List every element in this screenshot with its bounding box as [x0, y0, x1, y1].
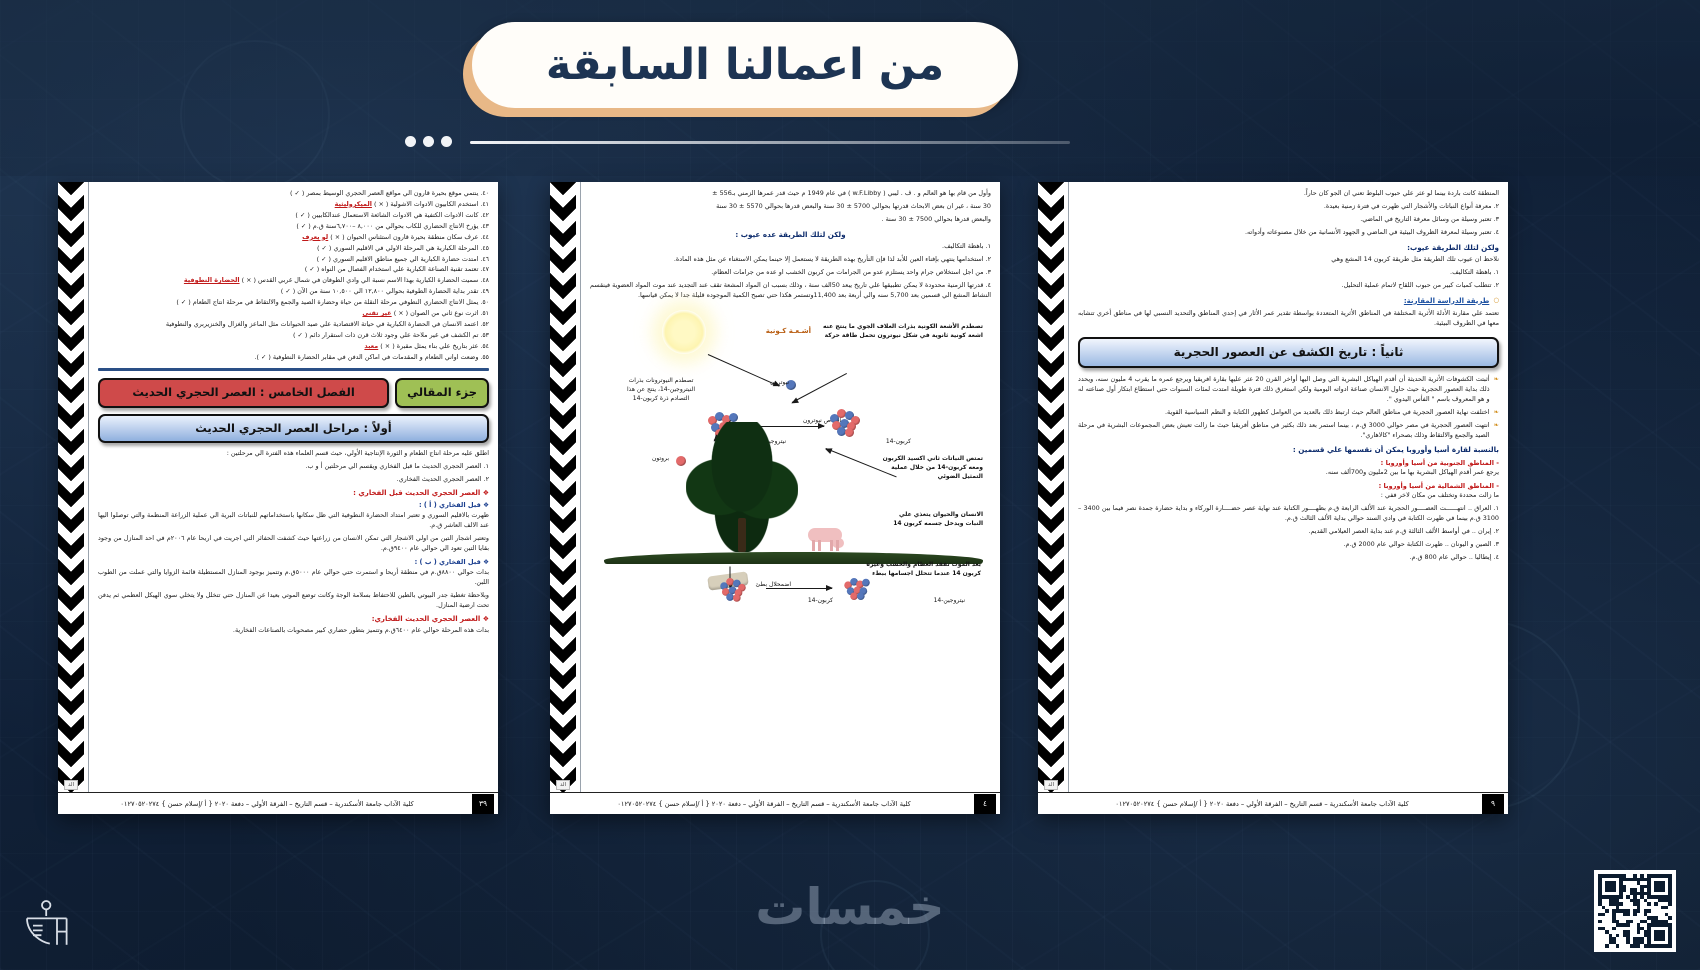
- grazing-animal-illustration: [806, 526, 846, 552]
- tree-illustration: [686, 422, 798, 552]
- section-title-box: أولاً : مراحل العصر الحجري الحديث: [98, 414, 489, 444]
- subheading-neolithic-prepottery: ❖ العصر الحجري الحديث قبل الفخاري :: [98, 488, 489, 499]
- right-top-lines: المنطقة كانت باردة بينما لو عثر علي حبوب…: [1078, 189, 1499, 238]
- item-text: عرف سكان منطقة بحيرة قارون استئناس الحيو…: [328, 233, 478, 241]
- true-false-item: ٤٥. المرحلة الكبارية هي المرحلة الاولي ف…: [98, 244, 489, 254]
- item-text: وضعت اواني الطعام و المقدمات في اماكن ال…: [254, 353, 478, 361]
- prepottery-b-paragraph: بدات حوالي ٨٨٠٠ق.م في منطقة أريحا و استم…: [98, 568, 489, 588]
- middle-page-number: ٤: [974, 794, 996, 814]
- brand-logo-icon: [14, 898, 76, 952]
- item-correction: لو يعرف: [302, 233, 328, 241]
- item-text: المرحلة الكبارية هي المرحلة الاولي في ال…: [317, 244, 478, 252]
- item-number: ٥٣.: [478, 332, 489, 339]
- label-carbon-14-top: كربون-14: [886, 437, 911, 446]
- subheading-prepottery-b: ❖ قبل الفخاري ( ب ) :: [98, 557, 489, 567]
- label-after-death: بعد الموت تفقد العظام والخشب وغيره كربون…: [863, 560, 981, 578]
- item-text: امتدت حضارة الكبارية الي جميع مناطق الاق…: [317, 255, 479, 263]
- left-paragraph-1a: ظهرت بالاقليم السوري و تعتبر امتداد الحض…: [98, 511, 489, 554]
- middle-page-corner-tag: الد: [556, 780, 570, 790]
- true-false-item: ٤١. استخدم الكابيون الادوات الاشولية ( ×…: [98, 200, 489, 210]
- right-top-line: ٢. معرفة أنواع النباتات والأشجار التي ظه…: [1078, 202, 1499, 212]
- left-paragraph-1b: بدات حوالي ٨٨٠٠ق.م في منطقة أريحا و استم…: [98, 568, 489, 611]
- asia-europe-north-heading: - المناطق الشمالية من أسيا وأوروبا :: [1078, 481, 1499, 491]
- item-text: يؤرخ الانتاج الحضاري للكاب بحوالي من ٨,٠…: [296, 222, 478, 230]
- comparison-text: تعتمد علي مقارنة الأدلة الأثرية المختلفة…: [1078, 309, 1499, 329]
- right-page-corner-tag: الد: [1044, 780, 1058, 790]
- true-false-list: ٤٠. ينتمي موقع بحيرة قارون الي مواقع الع…: [98, 189, 489, 363]
- right-defects-intro: نلاحظ ان عيوب تلك الطريقة مثل طريقة كربو…: [1078, 255, 1499, 265]
- middle-intro-line: 30 سنة ، غير ان بعض الابحاث قدرتها بحوال…: [590, 202, 991, 212]
- item-text: تعتمد تقنية الصناعة الكبارية علي استخدام…: [305, 265, 479, 273]
- item-correction: الحضارة النطوفية: [184, 276, 240, 284]
- qr-code[interactable]: [1594, 870, 1676, 952]
- arrow-decay: [766, 588, 832, 589]
- carbon-14-nucleus: [830, 409, 860, 435]
- true-false-item: ٤٣. يؤرخ الانتاج الحضاري للكاب بحوالي من…: [98, 222, 489, 232]
- item-number: ٥٢.: [478, 321, 489, 328]
- middle-defects-list: ١. باهظة التكاليف.٢. استخدامها ينتهي بإف…: [590, 242, 991, 301]
- carbon-14-nucleus-bottom: [720, 577, 746, 599]
- essay-part-badge: جزء المقالي: [395, 378, 489, 408]
- true-false-item: ٥٠. يمثل الانتاج الحضاري النطوفي مرحلة ا…: [98, 298, 489, 308]
- right-bullet-item: ❧اختلفت نهاية العصور الحجرية في مناطق ال…: [1078, 408, 1499, 418]
- middle-intro-line: وأول من قام بها هو العالم و . ف . ليبي (…: [590, 189, 991, 199]
- right-bullet-text: اختلفت نهاية العصور الحجرية في مناطق الع…: [1078, 408, 1490, 418]
- item-text: كانت الادوات الكتفية هي الادوات الشائعة …: [295, 211, 478, 219]
- right-page-number: ٩: [1482, 794, 1504, 814]
- right-bullet-list: ❧أثبتت الكشوفات الأثرية الحديثة أن أقدم …: [1078, 375, 1499, 441]
- asia-europe-heading: بالنسبة لقارة أسيا وأوروبا يمكن أن نقسمه…: [1078, 444, 1499, 455]
- left-intro-line: اطلق عليه مرحلة انتاج الطعام و الثورة ال…: [98, 449, 489, 459]
- right-top-line: ٣. تعتبر وسيلة من وسائل معرفة التاريخ في…: [1078, 215, 1499, 225]
- middle-defect-item: ١. باهظة التكاليف.: [590, 242, 991, 252]
- comparison-heading-row: ○ طريقة الدراسة المقارنة:: [1078, 296, 1499, 307]
- document-page-left[interactable]: ٤٠. ينتمي موقع بحيرة قارون الي مواقع الع…: [58, 182, 498, 814]
- right-defect-item: ٢. تتطلب كميات كبير من حبوب اللقاح لاتما…: [1078, 281, 1499, 291]
- right-top-line: المنطقة كانت باردة بينما لو عثر علي حبوب…: [1078, 189, 1499, 199]
- item-number: ٤٥.: [478, 245, 489, 252]
- chapter-box-row: جزء المقالي الفصل الخامس : العصر الحجري …: [98, 378, 489, 408]
- middle-page-footer: ٤ كلية الآداب جامعة الأسكندرية – قسم الت…: [550, 792, 1000, 814]
- left-sheet-zigzag-border: [58, 182, 84, 814]
- item-number: ٤٨.: [478, 277, 489, 284]
- item-text: ينتمي موقع بحيرة قارون الي مواقع العصر ا…: [290, 189, 478, 197]
- true-false-item: ٥٤. عثر بتاريخ علي بناء يمثل مقبرة ( × )…: [98, 342, 489, 352]
- item-number: ٥٥.: [478, 354, 489, 361]
- right-country-item: ٣. الصين و اليونان .. ظهرت الكتابة حوالي…: [1078, 540, 1499, 550]
- left-page-number: ٣٩: [472, 794, 494, 814]
- middle-intro-line: والبعض قدرها بحوالي 7500 ± 30 سنة .: [590, 215, 991, 225]
- subheading-prepottery-a: ❖ قبل الفخاري ( أ ) :: [98, 500, 489, 510]
- right-bullet-text: أثبتت الكشوفات الأثرية الحديثة أن أقدم ا…: [1078, 375, 1490, 405]
- carbon-14-cycle-diagram: أشـعـة كـونية تصطدم الأشعة الكونية بذرات…: [590, 304, 991, 604]
- asia-europe-south-text: يرجع عمر أقدم الهياكل البشرية بها ما بين…: [1078, 468, 1499, 478]
- true-false-item: ٤٠. ينتمي موقع بحيرة قارون الي مواقع الع…: [98, 189, 489, 199]
- left-page-body: ٤٠. ينتمي موقع بحيرة قارون الي مواقع الع…: [89, 182, 498, 814]
- right-page-body: المنطقة كانت باردة بينما لو عثر علي حبوب…: [1069, 182, 1508, 814]
- item-text: اعتمد الانسان في الحضارة الكبارية في حيا…: [166, 320, 479, 328]
- label-nitrogen-14-bottom: نيتروجين-14: [934, 596, 965, 605]
- item-text: اثرت نوع ثاني من الصوان ( × ): [392, 309, 479, 317]
- item-number: ٤٢.: [478, 212, 489, 219]
- item-correction: معبد: [364, 342, 378, 350]
- bullet-marker-icon: ❧: [1494, 375, 1499, 384]
- right-sheet-zigzag-border: [1038, 182, 1064, 814]
- label-animals-eat: الانسان والحيوان يتغذي علي النبات ويدخل …: [883, 510, 983, 528]
- item-number: ٤٦.: [478, 256, 489, 263]
- true-false-item: ٤٦. امتدت حضارة الكبارية الي جميع مناطق …: [98, 255, 489, 265]
- left-intro-line: ١. العصر الحجري الحديث ما قبل الفخاري وي…: [98, 462, 489, 472]
- label-cosmic-rays-paragraph: تصطدم الأشعة الكونية بذرات الغلاف الجوي …: [815, 322, 983, 340]
- right-bullet-item: ❧انتهت العصور الحجرية في مصر حوالي 3000 …: [1078, 421, 1499, 441]
- right-country-item: ٤. إيطاليا .. حوالي عام 800 ق.م.: [1078, 553, 1499, 563]
- nitrogen-14-nucleus-bottom: [844, 577, 870, 599]
- middle-intro-paragraph: وأول من قام بها هو العالم و . ف . ليبي (…: [590, 189, 991, 225]
- true-false-item: ٥٣. تم الكشف في غير ملاحة علي وجود ثلاث …: [98, 331, 489, 341]
- middle-defect-item: ٤. قدرتها الزمنية محدودة لا يمكن تطبيقها…: [590, 281, 991, 301]
- document-page-middle[interactable]: وأول من قام بها هو العالم و . ف . ليبي (…: [550, 182, 1000, 814]
- circle-bullet-icon: ○: [1493, 296, 1499, 305]
- right-section-title-box: ثانياً : تاريخ الكشف عن العصور الحجرية: [1078, 337, 1499, 368]
- right-country-item: ١. العراق .. انتهــــــت العصــــور الحج…: [1078, 504, 1499, 524]
- chapter-title-box: الفصل الخامس : العصر الحجري الحديث: [98, 378, 389, 408]
- left-intro-line: ٢. العصر الحجري الحديث الفخاري.: [98, 475, 489, 485]
- arrow-neutron-to-nitrogen: [792, 372, 847, 402]
- item-number: ٤٤.: [478, 234, 489, 241]
- left-page-corner-tag: الد: [64, 780, 78, 790]
- true-false-item: ٤٩. تقدر بداية الحضارة الطوفية بحوالي ١٢…: [98, 287, 489, 297]
- true-false-item: ٤٤. عرف سكان منطقة بحيرة قارون استئناس ا…: [98, 233, 489, 243]
- middle-defect-item: ٣. من اجل استخلاص جرام واحد يستلزم عدو م…: [590, 268, 991, 278]
- label-photosynthesis: تمتص النباتات ثاني اكسيد الكربون ومعه كر…: [875, 454, 983, 481]
- bullet-marker-icon: ❧: [1494, 408, 1499, 417]
- true-false-item: ٥٢. اعتمد الانسان في الحضارة الكبارية في…: [98, 320, 489, 330]
- label-neutron-collision: تصطدم النيوترونات بذرات النيتروجين-14، ي…: [626, 376, 696, 403]
- item-number: ٤٣.: [478, 223, 489, 230]
- label-neutron: نيوترون: [770, 378, 789, 387]
- true-false-item: ٤٨. سميت الحضارة الكبارية بهذا الاسم نسب…: [98, 276, 489, 286]
- right-country-item: ٢. إيران .. في أواسط الألف الثالثة ق.م ع…: [1078, 527, 1499, 537]
- label-carbon-14-bottom: كربون-14: [808, 596, 833, 605]
- true-false-item: ٤٧. تعتمد تقنية الصناعة الكبارية علي است…: [98, 265, 489, 275]
- right-defect-item: ١. باهظة التكاليف.: [1078, 268, 1499, 278]
- middle-sheet-zigzag-border: [550, 182, 576, 814]
- item-text: عثر بتاريخ علي بناء يمثل مقبرة ( × ): [378, 342, 478, 350]
- item-number: ٤١.: [478, 201, 489, 208]
- item-text: تم الكشف في غير ملاحة علي وجود ثلاث قرن …: [293, 331, 478, 339]
- right-defects-heading: ولكن لتلك الطريقة عيوب:: [1078, 242, 1499, 253]
- item-number: ٤٠.: [478, 190, 489, 197]
- left-page-rule: [98, 368, 489, 371]
- sun-icon: [662, 310, 706, 354]
- bullet-marker-icon: ❧: [1494, 421, 1499, 430]
- comparison-heading: طريقة الدراسة المقارنة:: [1078, 296, 1489, 307]
- prepottery-a-paragraph: ظهرت بالاقليم السوري و تعتبر امتداد الحض…: [98, 511, 489, 531]
- item-number: ٤٩.: [478, 288, 489, 295]
- right-page-footer-text: كلية الآداب جامعة الأسكندرية – قسم التار…: [1042, 800, 1482, 808]
- label-proton: بروتون: [652, 454, 669, 463]
- asia-europe-south-heading: - المناطق الجنوبية من أسيا وأوروبا :: [1078, 458, 1499, 468]
- proton-particle: [676, 456, 686, 466]
- middle-defects-heading: ولكن لتلك الطريقة عده عيوب :: [590, 229, 991, 240]
- left-paragraph-2: بدات هذه المرحلة حوالي عام ٦٤٠٠ق.م وتتمي…: [98, 626, 489, 636]
- item-number: ٤٧.: [478, 266, 489, 273]
- arrow-sun-to-neutron: [708, 354, 780, 387]
- item-text: يمثل الانتاج الحضاري النطوفي مرحلة النقل…: [176, 298, 478, 306]
- item-number: ٥٠.: [478, 299, 489, 306]
- right-page-footer: ٩ كلية الآداب جامعة الأسكندرية – قسم الت…: [1038, 792, 1508, 814]
- item-correction: غير تقني: [362, 309, 391, 317]
- right-countries-list: ١. العراق .. انتهــــــت العصــــور الحج…: [1078, 504, 1499, 563]
- right-top-line: ٤. تعتبر وسيلة لمعرفة الظروف البيئية في …: [1078, 228, 1499, 238]
- subheading-pottery-neolithic: ❖ العصر الحجري الحديث الفخاري:: [98, 614, 489, 625]
- left-page-footer-text: كلية الآداب جامعة الأسكندرية – قسم التار…: [62, 800, 472, 808]
- item-correction: الميكروليثية: [335, 200, 372, 208]
- prepottery-b-paragraph: وبلاحظة تغطية جدر البيوتي بالطين للاحتفا…: [98, 591, 489, 611]
- item-number: ٥١.: [478, 310, 489, 317]
- item-text: تقدر بداية الحضارة الطوفية بحوالي ١٢,٨٠٠…: [281, 287, 479, 295]
- true-false-item: ٥٥. وضعت اواني الطعام و المقدمات في اماك…: [98, 353, 489, 363]
- item-number: ٥٤.: [478, 343, 489, 350]
- item-text: سميت الحضارة الكبارية بهذا الاسم نسبة ال…: [240, 276, 479, 284]
- item-text: استخدم الكابيون الادوات الاشولية ( × ): [372, 200, 478, 208]
- document-page-right[interactable]: المنطقة كانت باردة بينما لو عثر علي حبوب…: [1038, 182, 1508, 814]
- left-intro-lines: اطلق عليه مرحلة انتاج الطعام و الثورة ال…: [98, 449, 489, 485]
- true-false-item: ٤٢. كانت الادوات الكتفية هي الادوات الشا…: [98, 211, 489, 221]
- asia-europe-north-text: ما زالت محددة وتختلف من مكان لاخر ففي :: [1078, 491, 1499, 501]
- left-page-footer: ٣٩ كلية الآداب جامعة الأسكندرية – قسم ال…: [58, 792, 498, 814]
- middle-page-footer-text: كلية الآداب جامعة الأسكندرية – قسم التار…: [554, 800, 974, 808]
- qr-code-grid: [1598, 874, 1672, 948]
- right-bullet-item: ❧أثبتت الكشوفات الأثرية الحديثة أن أقدم …: [1078, 375, 1499, 405]
- prepottery-a-paragraph: وتعتبر اشجار التين من اولي الاشجار التي …: [98, 534, 489, 554]
- label-cosmic-rays: أشـعـة كـونية: [766, 326, 811, 337]
- middle-page-body: وأول من قام بها هو العالم و . ف . ليبي (…: [581, 182, 1000, 814]
- right-bullet-text: انتهت العصور الحجرية في مصر حوالي 3000 ق…: [1078, 421, 1490, 441]
- document-previews: ٤٠. ينتمي موقع بحيرة قارون الي مواقع الع…: [0, 0, 1700, 970]
- true-false-item: ٥١. اثرت نوع ثاني من الصوان ( × ) غير تق…: [98, 309, 489, 319]
- right-defects-list: ١. باهظة التكاليف.٢. تتطلب كميات كبير من…: [1078, 268, 1499, 291]
- middle-defect-item: ٢. استخدامها ينتهي بإفناء العين للأبد لذ…: [590, 255, 991, 265]
- slide-stage: من اعمالنا السابقة ٤٠. ينتمي موقع بحيرة …: [0, 0, 1700, 970]
